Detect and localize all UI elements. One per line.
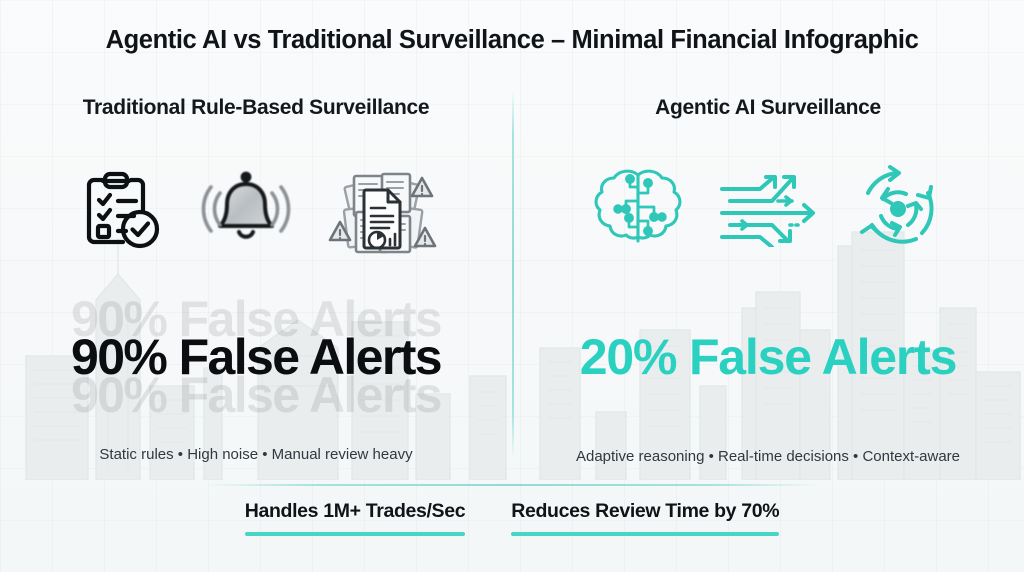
horizontal-divider <box>205 484 820 486</box>
stat-false-alerts-agentic-ai: 20% False Alerts <box>518 332 1018 382</box>
continuous-loop-icon <box>850 163 946 255</box>
panel-heading-traditional: Traditional Rule-Based Surveillance <box>6 96 506 120</box>
icon-row-traditional <box>6 154 506 264</box>
footer-label-review-time: Reduces Review Time by 70% <box>511 500 779 523</box>
icon-row-agentic-ai <box>518 154 1018 264</box>
footer-item-throughput: Handles 1M+ Trades/Sec <box>245 500 465 536</box>
adaptive-flow-arrows-icon <box>716 171 820 247</box>
clipboard-checklist-icon <box>74 163 166 255</box>
footer-item-review-time: Reduces Review Time by 70% <box>511 500 779 536</box>
stat-false-alerts-traditional: 90% False Alerts <box>6 332 506 382</box>
footer-label-throughput: Handles 1M+ Trades/Sec <box>245 500 465 523</box>
stat-block-traditional: 90% False Alerts 90% False Alerts 90% Fa… <box>6 306 506 402</box>
footer-underline-review-time <box>511 532 779 536</box>
footer-highlights: Handles 1M+ Trades/Sec Reduces Review Ti… <box>0 500 1024 536</box>
alert-bell-icon <box>196 163 296 255</box>
infographic-canvas: Agentic AI vs Traditional Surveillance –… <box>0 0 1024 572</box>
footer-underline-throughput <box>245 532 465 536</box>
panel-agentic-ai: Agentic AI Surveillance <box>518 96 1018 456</box>
ai-circuit-brain-icon <box>590 163 686 255</box>
caption-agentic-ai: Adaptive reasoning • Real-time decisions… <box>518 448 1018 465</box>
stat-block-agentic-ai: 20% False Alerts <box>518 306 1018 402</box>
document-pile-warning-icon <box>326 160 438 258</box>
page-title: Agentic AI vs Traditional Surveillance –… <box>0 26 1024 55</box>
panel-heading-agentic-ai: Agentic AI Surveillance <box>518 96 1018 120</box>
vertical-divider <box>512 90 514 458</box>
caption-traditional: Static rules • High noise • Manual revie… <box>6 446 506 463</box>
panel-traditional: Traditional Rule-Based Surveillance <box>6 96 506 456</box>
